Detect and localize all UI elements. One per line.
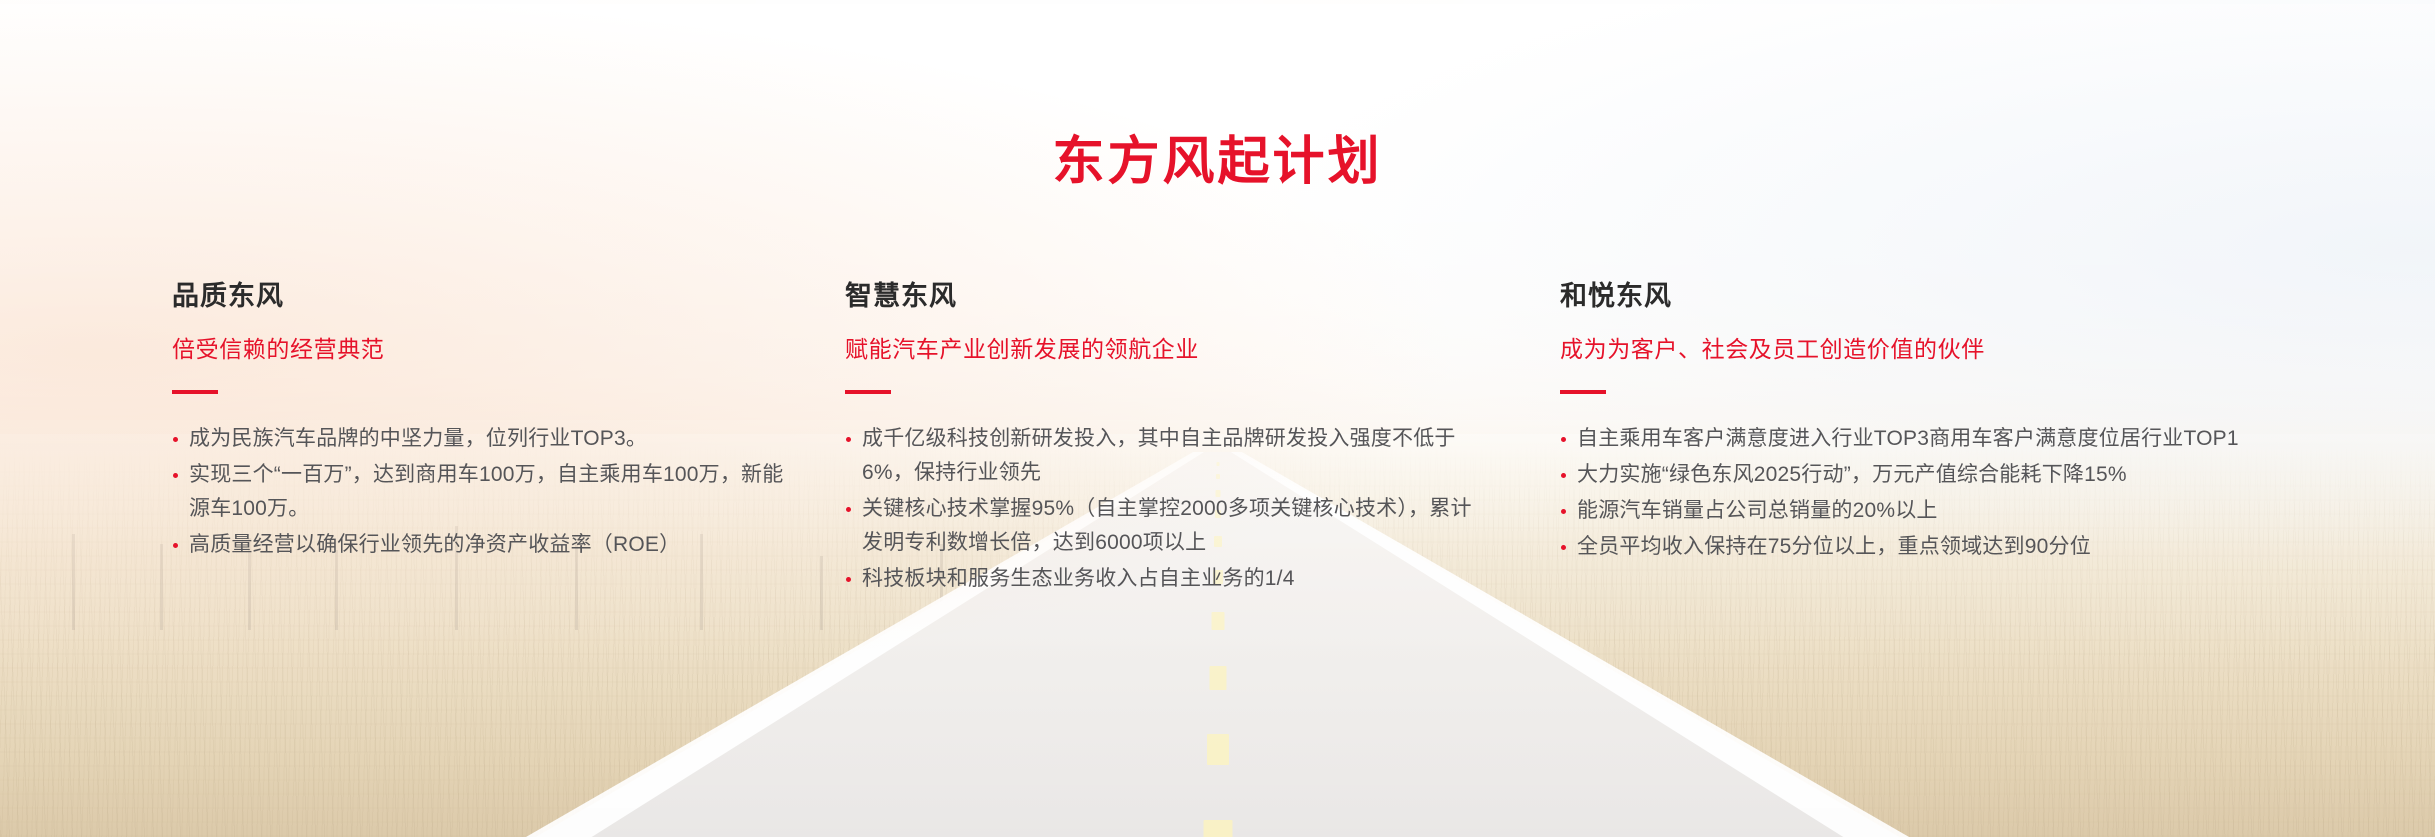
pillar-column-3: 和悦东风成为为客户、社会及员工创造价值的伙伴自主乘用车客户满意度进入行业TOP3… (1560, 282, 2340, 566)
list-item: 自主乘用车客户满意度进入行业TOP3商用车客户满意度位居行业TOP1 (1560, 422, 2340, 456)
pillar-bullet-list: 成千亿级科技创新研发投入，其中自主品牌研发投入强度不低于6%，保持行业领先关键核… (845, 422, 1485, 596)
list-item: 科技板块和服务生态业务收入占自主业务的1/4 (845, 562, 1485, 596)
pillar-divider-rule (845, 390, 891, 394)
pillar-divider-rule (1560, 390, 1606, 394)
list-item: 关键核心技术掌握95%（自主掌控2000多项关键核心技术），累计发明专利数增长倍… (845, 492, 1485, 560)
pillar-title: 品质东风 (172, 282, 792, 312)
list-item: 实现三个“一百万”，达到商用车100万，自主乘用车100万，新能源车100万。 (172, 458, 792, 526)
pillar-column-1: 品质东风倍受信赖的经营典范成为民族汽车品牌的中坚力量，位列行业TOP3。实现三个… (172, 282, 792, 564)
list-item: 成千亿级科技创新研发投入，其中自主品牌研发投入强度不低于6%，保持行业领先 (845, 422, 1485, 490)
pillar-subtitle: 倍受信赖的经营典范 (172, 336, 792, 364)
list-item: 能源汽车销量占公司总销量的20%以上 (1560, 494, 2340, 528)
slide-content: 东方风起计划 品质东风倍受信赖的经营典范成为民族汽车品牌的中坚力量，位列行业TO… (0, 0, 2435, 837)
pillar-subtitle: 赋能汽车产业创新发展的领航企业 (845, 336, 1485, 364)
pillar-title: 智慧东风 (845, 282, 1485, 312)
slide-root: 东方风起计划 品质东风倍受信赖的经营典范成为民族汽车品牌的中坚力量，位列行业TO… (0, 0, 2435, 837)
list-item: 全员平均收入保持在75分位以上，重点领域达到90分位 (1560, 530, 2340, 564)
pillar-divider-rule (172, 390, 218, 394)
list-item: 高质量经营以确保行业领先的净资产收益率（ROE） (172, 528, 792, 562)
columns-container: 品质东风倍受信赖的经营典范成为民族汽车品牌的中坚力量，位列行业TOP3。实现三个… (0, 282, 2435, 752)
pillar-bullet-list: 成为民族汽车品牌的中坚力量，位列行业TOP3。实现三个“一百万”，达到商用车10… (172, 422, 792, 562)
pillar-subtitle: 成为为客户、社会及员工创造价值的伙伴 (1560, 336, 2340, 364)
pillar-column-2: 智慧东风赋能汽车产业创新发展的领航企业成千亿级科技创新研发投入，其中自主品牌研发… (845, 282, 1485, 598)
list-item: 成为民族汽车品牌的中坚力量，位列行业TOP3。 (172, 422, 792, 456)
pillar-bullet-list: 自主乘用车客户满意度进入行业TOP3商用车客户满意度位居行业TOP1大力实施“绿… (1560, 422, 2340, 564)
pillar-title: 和悦东风 (1560, 282, 2340, 312)
page-title: 东方风起计划 (0, 136, 2435, 188)
list-item: 大力实施“绿色东风2025行动”，万元产值综合能耗下降15% (1560, 458, 2340, 492)
